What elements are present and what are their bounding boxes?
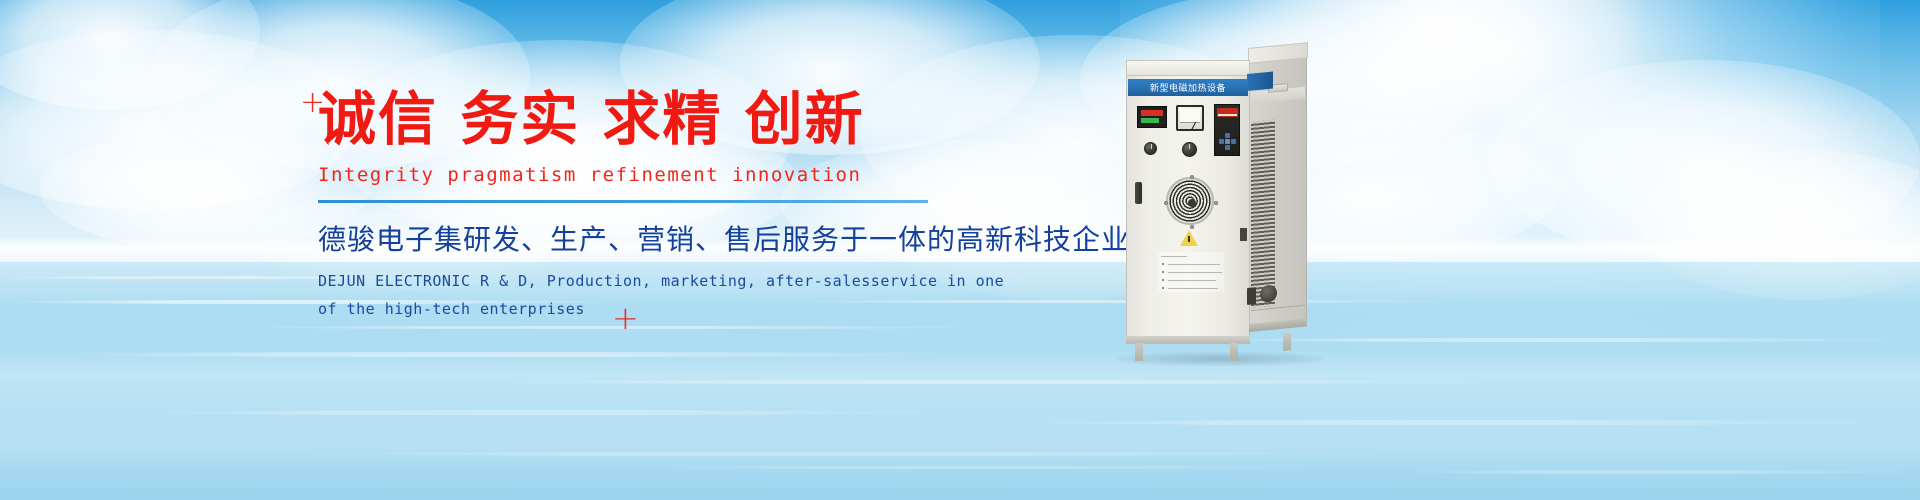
keypad-key-center (1225, 139, 1230, 144)
machine-connector-rect (1247, 287, 1256, 305)
sticker-bullet (1162, 279, 1164, 281)
tagline-english: DEJUN ELECTRONIC R & D, Production, mark… (318, 268, 1018, 324)
headline-chinese: 诚信 务实 求精 创新 (318, 88, 1018, 152)
machine-leg (1230, 343, 1238, 361)
machine-digital-display (1137, 106, 1167, 128)
machine-knob-left (1144, 142, 1157, 155)
display-red-readout (1141, 110, 1163, 116)
warning-triangle-icon (1180, 230, 1198, 246)
tagline-chinese: 德骏电子集研发、生产、营销、售后服务于一体的高新科技企业 (318, 218, 1018, 258)
machine-door-handle (1135, 182, 1142, 204)
display-green-readout (1141, 118, 1159, 123)
sticker-line (1168, 264, 1220, 265)
machine-spec-sticker (1158, 252, 1224, 292)
fan-screw (1164, 201, 1168, 205)
knob-tick (1151, 144, 1152, 149)
machine-knob-right (1182, 142, 1197, 157)
machine-label-bar-side (1247, 71, 1273, 91)
machine-shadow (1118, 352, 1323, 366)
sticker-bullet (1162, 271, 1164, 273)
sticker-line (1168, 272, 1222, 273)
tagline-english-line-1: DEJUN ELECTRONIC R & D, Production, mark… (318, 268, 1018, 296)
sticker-bullet (1162, 287, 1164, 289)
keypad-key-down (1225, 145, 1230, 150)
machine-fan-grille (1166, 177, 1214, 225)
machine-connector-small (1240, 228, 1247, 241)
product-image-heating-machine: 新型电磁加热设备 (1118, 52, 1328, 360)
banner-text-block: 诚信 务实 求精 创新 Integrity pragmatism refinem… (318, 88, 1018, 323)
keypad-key-up (1225, 133, 1230, 138)
knob-tick (1189, 144, 1190, 149)
machine-label-text: 新型电磁加热设备 (1150, 81, 1226, 94)
promo-banner: + + 诚信 务实 求精 创新 Integrity pragmatism ref… (0, 0, 1920, 500)
gauge-needle (1191, 122, 1196, 130)
fan-screw (1214, 201, 1218, 205)
keypad-keys (1219, 133, 1237, 151)
gauge-face (1180, 109, 1200, 123)
fan-screw (1190, 175, 1194, 179)
machine-keypad-panel (1214, 104, 1240, 156)
keypad-screen (1217, 108, 1238, 117)
sticker-bullet (1162, 263, 1164, 265)
machine-top-face (1126, 60, 1250, 76)
keypad-key-left (1219, 139, 1224, 144)
sticker-line (1168, 288, 1218, 289)
tagline-english-line-2: of the high-tech enterprises (318, 296, 1018, 324)
machine-label-bar: 新型电磁加热设备 (1128, 79, 1248, 96)
divider-line (318, 200, 928, 203)
keypad-key-right (1231, 139, 1236, 144)
sticker-line (1168, 280, 1216, 281)
headline-english: Integrity pragmatism refinement innovati… (318, 164, 1018, 186)
fan-hub (1188, 199, 1196, 207)
sticker-line (1161, 256, 1187, 257)
machine-analog-gauge (1176, 105, 1204, 131)
machine-leg (1135, 343, 1143, 361)
machine-side-vents-near (1251, 120, 1275, 308)
fan-screw (1190, 225, 1194, 229)
machine-leg (1283, 332, 1291, 351)
